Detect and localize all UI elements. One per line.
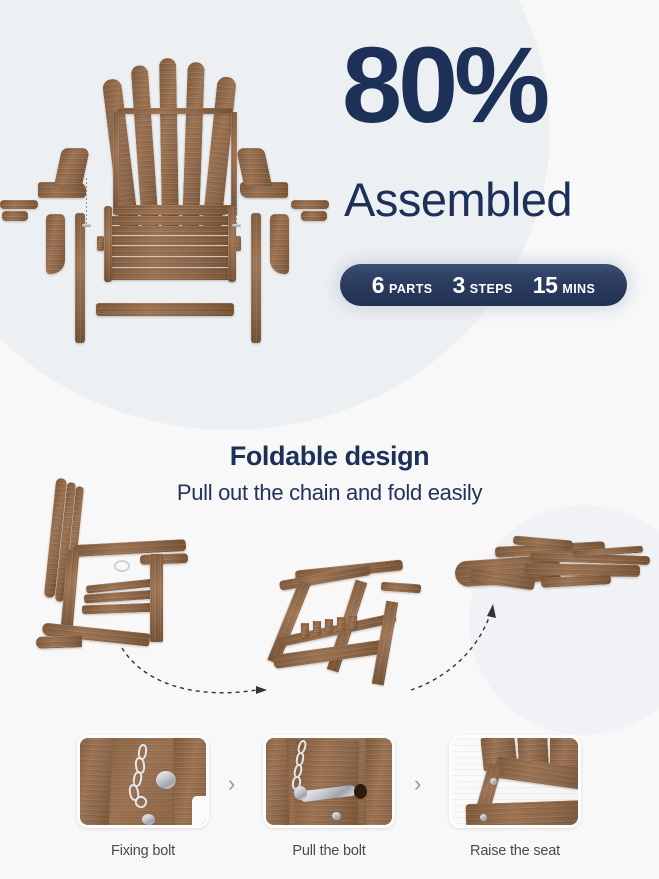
step-separator-2: › (414, 771, 421, 797)
stat-parts: 6 PARTS (364, 272, 441, 299)
backrest-slat (159, 58, 179, 228)
right-cupholder-arm (291, 196, 331, 224)
step-thumbnail-fixing-bolt[interactable] (77, 735, 209, 828)
exploded-parts-illustration (8, 28, 328, 360)
backrest-slat (182, 62, 205, 228)
pivot-screw (480, 814, 487, 821)
assembled-percent-headline: 80% (342, 34, 546, 137)
stat-steps: 3 STEPS (444, 272, 520, 299)
step-thumbnail-pull-bolt[interactable] (263, 735, 395, 828)
right-armrest (240, 148, 288, 200)
fold-arrow-1 (118, 640, 278, 700)
bolt-head (156, 771, 176, 789)
infographic-page: 80% Assembled 6 PARTS 3 STEPS 15 MINS Fo… (0, 0, 659, 879)
bolt-pin-head (294, 786, 307, 800)
left-curved-leg (46, 214, 65, 274)
bottom-stretcher-rail (96, 303, 234, 316)
caption-fixing-bolt: Fixing bolt (63, 843, 223, 859)
foldable-design-title: Foldable design (0, 441, 659, 472)
stat-mins-unit: MINS (562, 282, 595, 296)
pivot-screw (490, 778, 497, 785)
hero-section: 80% Assembled 6 PARTS 3 STEPS 15 MINS (0, 0, 659, 430)
screw-head (142, 814, 155, 825)
backrest-top-rail (118, 108, 232, 114)
stat-mins-value: 15 (533, 272, 558, 299)
screw-head (332, 812, 341, 820)
caption-raise-the-seat: Raise the seat (435, 843, 595, 859)
chair-stage-half-folded (255, 565, 425, 695)
caption-pull-the-bolt: Pull the bolt (249, 843, 409, 859)
chair-stage-fully-folded (455, 538, 650, 603)
step-thumbnail-raise-seat[interactable] (449, 735, 581, 828)
backrest-assembly (120, 50, 230, 228)
fold-arrow-2 (405, 600, 515, 695)
left-spacer-block (97, 236, 104, 251)
backrest-left-post (113, 112, 119, 214)
bolt-hole (354, 784, 367, 799)
left-cupholder-arm (0, 196, 40, 224)
assembled-label: Assembled (344, 176, 572, 223)
step-separator-1: › (228, 771, 235, 797)
stat-parts-value: 6 (372, 272, 384, 299)
right-curved-leg (270, 214, 289, 274)
stats-badge: 6 PARTS 3 STEPS 15 MINS (340, 264, 627, 306)
left-straight-leg (75, 213, 85, 343)
chain-ring-detail (114, 560, 130, 572)
seat-assembly (106, 208, 234, 296)
stat-steps-unit: STEPS (470, 282, 513, 296)
right-straight-leg (251, 213, 261, 343)
stat-parts-unit: PARTS (389, 282, 432, 296)
stat-steps-value: 3 (452, 272, 464, 299)
left-armrest (38, 148, 86, 200)
stat-mins: 15 MINS (525, 272, 603, 299)
